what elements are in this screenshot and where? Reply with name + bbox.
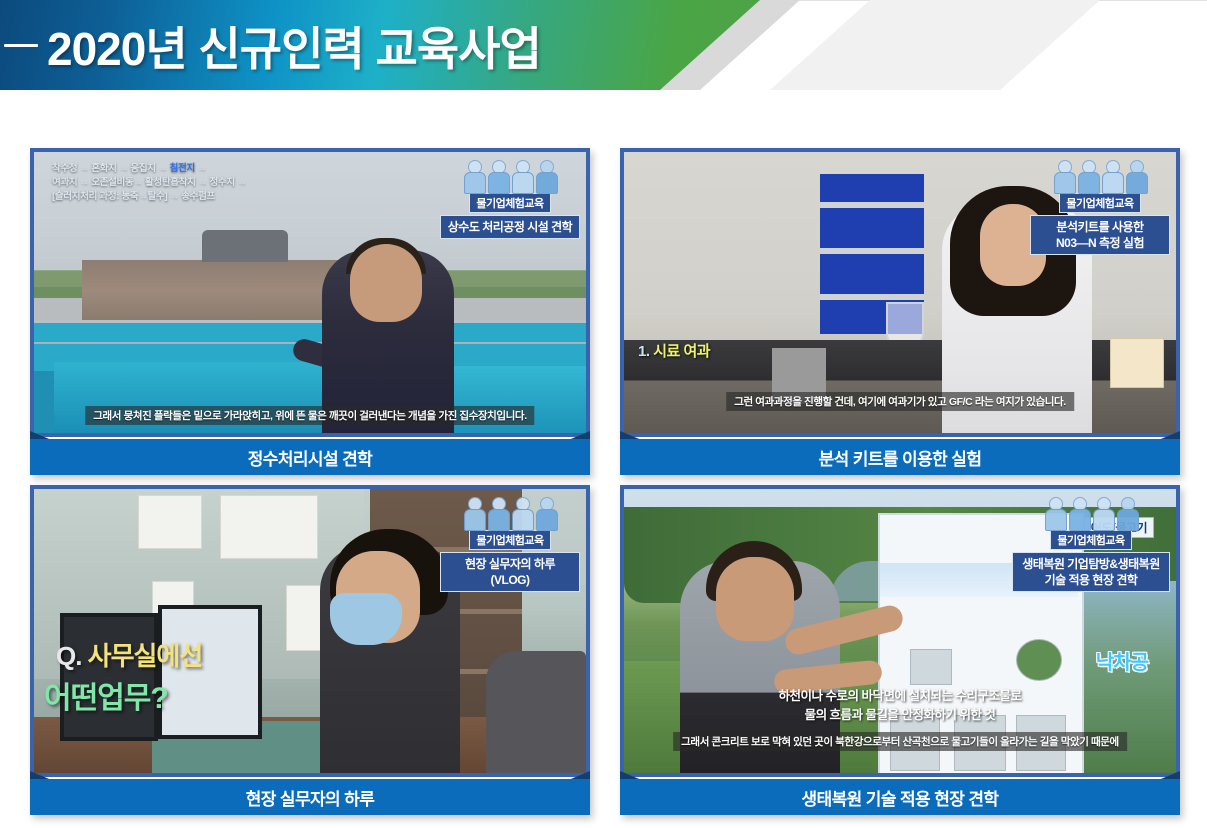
badge-subtitle: 상수도 처리공정 시설 견학 xyxy=(440,215,580,239)
video-thumbnail-2[interactable]: 물기업체험교육 분석키트를 사용한 N03—N 측정 실험 1. 시료 여과 그… xyxy=(620,148,1180,437)
badge-tag-label: 물기업체험교육 xyxy=(1059,193,1140,213)
people-group-icon xyxy=(1012,495,1170,529)
badge-tag-label: 물기업체험교육 xyxy=(1050,530,1131,550)
badge-subtitle-line2: N03—N 측정 실험 xyxy=(1056,236,1144,250)
video-thumbnail-4[interactable]: 어도(물고기 물기업체험교육 생태복원 기업탐방&생태복원 기술 적용 현장 견… xyxy=(620,485,1180,777)
dash-icon xyxy=(4,44,38,47)
step-number: 1. xyxy=(638,343,653,360)
badge-subtitle: 분석키트를 사용한 N03—N 측정 실험 xyxy=(1030,215,1170,255)
card-title-ribbon-3: 현장 실무자의 하루 xyxy=(30,779,590,815)
description-line1: 하천이나 수로의 바닥면에 설치되는 수리구조물로 xyxy=(779,689,1022,703)
card-title-2: 분석 키트를 이용한 실험 xyxy=(819,445,982,470)
card-title-4: 생태복원 기술 적용 현장 견학 xyxy=(802,785,999,810)
overlay-question-line1: Q. 사무실에선 xyxy=(56,636,202,673)
video-card-3[interactable]: 물기업체험교육 현장 실무자의 하루(VLOG) Q. 사무실에선 어떤업무? … xyxy=(30,485,590,815)
people-group-icon xyxy=(440,495,580,529)
badge-2: 물기업체험교육 분석키트를 사용한 N03—N 측정 실험 xyxy=(1030,158,1170,255)
video-caption-4: 그래서 콘크리트 보로 막혀 있던 곳이 북한강으로부터 산곡천으로 물고기들이… xyxy=(673,732,1127,751)
overlay-question-line2: 어떤업무? xyxy=(44,673,168,717)
process-flow-overlay: 착수정 → 혼화지 → 응집지 → 침전지 → 여과지 → 오존설비동→ 활성탄… xyxy=(52,162,352,204)
video-card-2[interactable]: 물기업체험교육 분석키트를 사용한 N03—N 측정 실험 1. 시료 여과 그… xyxy=(620,148,1180,475)
video-card-4[interactable]: 어도(물고기 물기업체험교육 생태복원 기업탐방&생태복원 기술 적용 현장 견… xyxy=(620,485,1180,815)
people-group-icon xyxy=(1030,158,1170,192)
badge-3: 물기업체험교육 현장 실무자의 하루(VLOG) xyxy=(440,495,580,592)
step-overlay-2: 1. 시료 여과 xyxy=(638,340,710,361)
card-title-ribbon-2: 분석 키트를 이용한 실험 xyxy=(620,439,1180,475)
people-group-icon xyxy=(440,158,580,192)
badge-subtitle-line1: 생태복원 기업탐방&생태복원 xyxy=(1022,557,1159,571)
card-title-ribbon-1: 정수처리시설 견학 xyxy=(30,439,590,475)
card-title-3: 현장 실무자의 하루 xyxy=(246,785,375,810)
page-title: 2020년 신규인력 교육사업 xyxy=(47,13,541,79)
card-title-1: 정수처리시설 견학 xyxy=(248,445,372,470)
nakcha-overlay-label: 낙차공 xyxy=(1096,646,1148,675)
overlay-q-mark: Q. xyxy=(56,641,88,671)
video-thumbnail-3[interactable]: 물기업체험교육 현장 실무자의 하루(VLOG) Q. 사무실에선 어떤업무? xyxy=(30,485,590,777)
badge-1: 물기업체험교육 상수도 처리공정 시설 견학 xyxy=(440,158,580,239)
video-card-grid: 착수정 → 혼화지 → 응집지 → 침전지 → 여과지 → 오존설비동→ 활성탄… xyxy=(0,90,1207,828)
overlay-line1-text: 사무실에선 xyxy=(88,641,203,671)
badge-subtitle-line2: 기술 적용 현장 견학 xyxy=(1045,573,1138,587)
video-thumbnail-1[interactable]: 착수정 → 혼화지 → 응집지 → 침전지 → 여과지 → 오존설비동→ 활성탄… xyxy=(30,148,590,437)
description-overlay-4: 하천이나 수로의 바닥면에 설치되는 수리구조물로 물의 흐름과 물길을 안정화… xyxy=(635,687,1165,725)
badge-4: 물기업체험교육 생태복원 기업탐방&생태복원 기술 적용 현장 견학 xyxy=(1012,495,1170,592)
description-line2: 물의 흐름과 물길을 안정화하기 위한 것 xyxy=(805,708,996,722)
badge-subtitle-line1: 분석키트를 사용한 xyxy=(1056,220,1143,234)
video-card-1[interactable]: 착수정 → 혼화지 → 응집지 → 침전지 → 여과지 → 오존설비동→ 활성탄… xyxy=(30,148,590,475)
badge-tag-label: 물기업체험교육 xyxy=(469,530,550,550)
video-caption-1: 그래서 뭉쳐진 플락들은 밑으로 가라앉히고, 위에 뜬 물은 깨끗이 걸러낸다… xyxy=(85,406,534,425)
badge-subtitle: 현장 실무자의 하루(VLOG) xyxy=(440,552,580,592)
page-header: 2020년 신규인력 교육사업 xyxy=(0,0,1207,90)
card-title-ribbon-4: 생태복원 기술 적용 현장 견학 xyxy=(620,779,1180,815)
badge-subtitle: 생태복원 기업탐방&생태복원 기술 적용 현장 견학 xyxy=(1012,552,1170,592)
badge-tag-label: 물기업체험교육 xyxy=(469,193,550,213)
step-label: 시료 여과 xyxy=(653,343,710,360)
video-caption-2: 그런 여과과정을 진행할 건데, 여기에 여과기가 있고 GF/C 라는 여지가… xyxy=(726,392,1074,411)
